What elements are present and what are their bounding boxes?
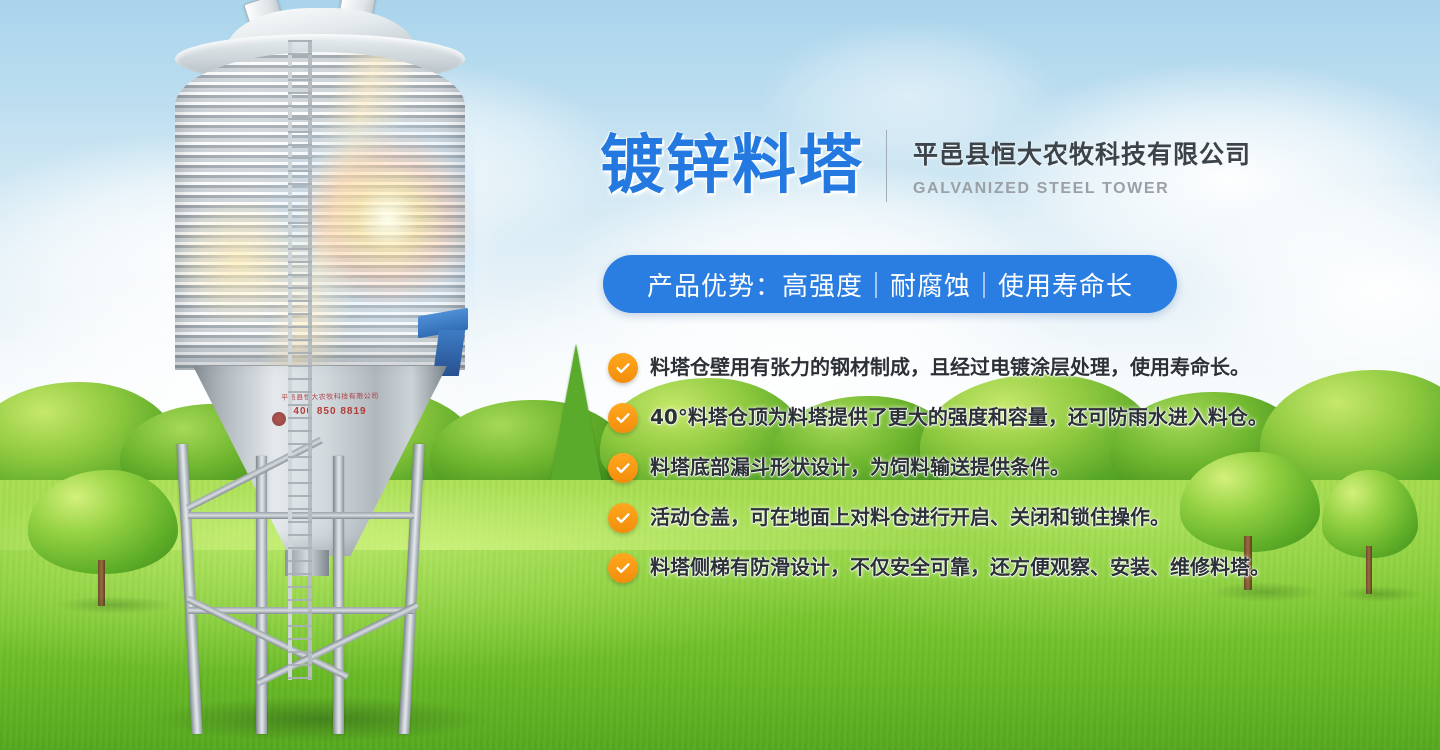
silo-support-leg bbox=[176, 444, 202, 734]
tree-shadow bbox=[1336, 586, 1422, 602]
feature-text: 料塔底部漏斗形状设计，为饲料输送提供条件。 bbox=[650, 452, 1070, 482]
feature-item: 40°料塔仓顶为料塔提供了更大的强度和容量，还可防雨水进入料仓。 bbox=[608, 402, 1300, 452]
feature-item: 料塔底部漏斗形状设计，为饲料输送提供条件。 bbox=[608, 452, 1300, 502]
feature-text: 料塔仓壁用有张力的钢材制成，且经过电镀涂层处理，使用寿命长。 bbox=[650, 352, 1250, 382]
feature-text: 40°料塔仓顶为料塔提供了更大的强度和容量，还可防雨水进入料仓。 bbox=[650, 402, 1268, 432]
silo-valve bbox=[272, 412, 286, 426]
english-subtitle: GALVANIZED STEEL TOWER bbox=[913, 180, 1251, 198]
company-name: 平邑县恒大农牧科技有限公司 bbox=[913, 135, 1251, 171]
page-title: 镀锌料塔 bbox=[600, 134, 864, 198]
feature-text: 活动仓盖，可在地面上对料仓进行开启、关闭和锁住操作。 bbox=[650, 502, 1170, 532]
feature-list: 料塔仓壁用有张力的钢材制成，且经过电镀涂层处理，使用寿命长。 40°料塔仓顶为料… bbox=[608, 352, 1300, 602]
feature-text: 料塔侧梯有防滑设计，不仅安全可靠，还方便观察、安装、维修料塔。 bbox=[650, 552, 1270, 582]
feature-item: 料塔仓壁用有张力的钢材制成，且经过电镀涂层处理，使用寿命长。 bbox=[608, 352, 1300, 402]
silo-support-leg bbox=[398, 444, 424, 734]
silo-ladder bbox=[288, 40, 312, 680]
title-divider bbox=[886, 130, 887, 202]
advantage-pill: 产品优势：高强度｜耐腐蚀｜使用寿命长 bbox=[603, 255, 1177, 313]
feature-item: 活动仓盖，可在地面上对料仓进行开启、关闭和锁住操作。 bbox=[608, 502, 1300, 552]
silo-product-image: 平邑县恒大农牧科技有限公司 400 850 8819 bbox=[100, 0, 520, 734]
silo-support-leg bbox=[256, 456, 267, 734]
check-circle-icon bbox=[608, 353, 638, 383]
check-circle-icon bbox=[608, 553, 638, 583]
check-circle-icon bbox=[608, 403, 638, 433]
brand-block: 平邑县恒大农牧科技有限公司 GALVANIZED STEEL TOWER bbox=[913, 135, 1251, 198]
feature-item: 料塔侧梯有防滑设计，不仅安全可靠，还方便观察、安装、维修料塔。 bbox=[608, 552, 1300, 602]
advantage-pill-label: 产品优势：高强度｜耐腐蚀｜使用寿命长 bbox=[647, 266, 1133, 303]
tree-crown bbox=[1322, 470, 1418, 558]
silo-support-leg bbox=[333, 456, 344, 734]
check-circle-icon bbox=[608, 503, 638, 533]
foreground-tree bbox=[1322, 470, 1422, 600]
banner-content: 镀锌料塔 平邑县恒大农牧科技有限公司 GALVANIZED STEEL TOWE… bbox=[600, 0, 1300, 750]
hero-banner: 平邑县恒大农牧科技有限公司 400 850 8819 镀锌料塔 平邑县恒大农牧科… bbox=[0, 0, 1440, 750]
title-row: 镀锌料塔 平邑县恒大农牧科技有限公司 GALVANIZED STEEL TOWE… bbox=[600, 118, 1251, 214]
check-circle-icon bbox=[608, 453, 638, 483]
